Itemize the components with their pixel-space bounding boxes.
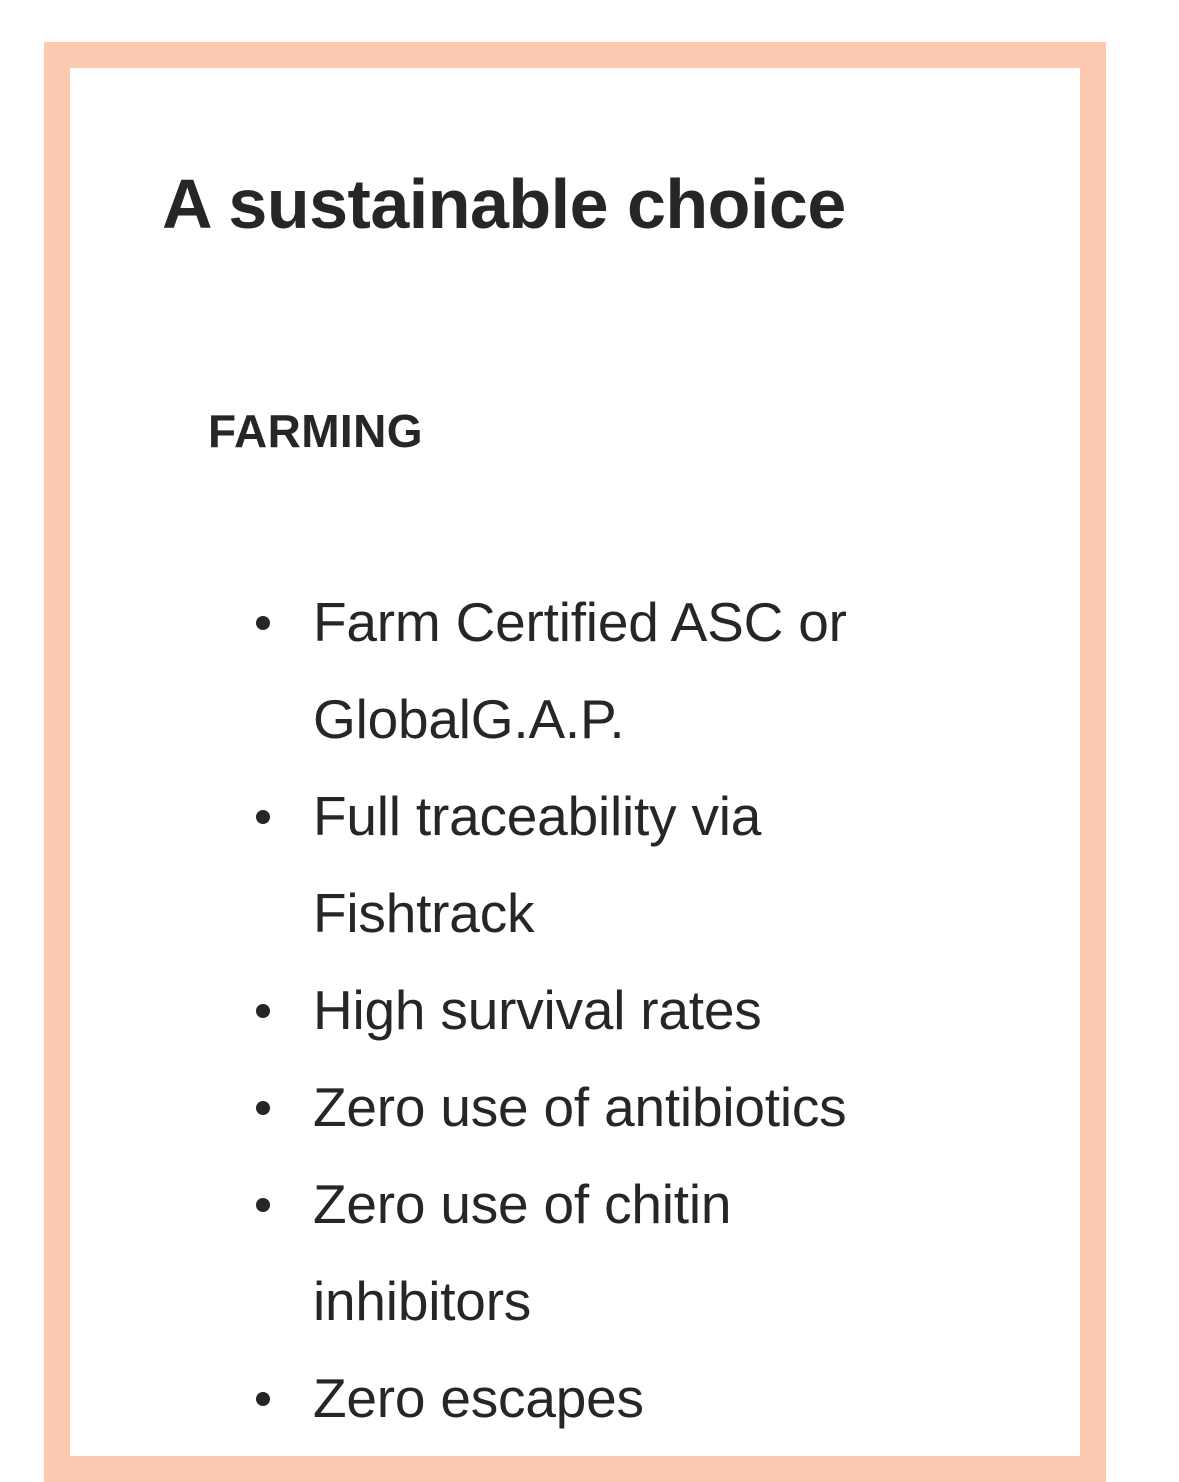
bullet-point-icon — [256, 1004, 270, 1018]
bullet-point-icon — [256, 1392, 270, 1406]
page-title: A sustainable choice — [162, 168, 846, 242]
benefit-list: Farm Certified ASC or GlobalG.A.P. Full … — [238, 574, 938, 1447]
list-item: High survival rates — [238, 962, 938, 1059]
list-item-label: Zero use of chitin inhibitors — [313, 1156, 938, 1350]
list-item-label: Farm Certified ASC or GlobalG.A.P. — [313, 574, 938, 768]
list-item-label: High survival rates — [313, 962, 938, 1059]
slide-root: A sustainable choice FARMING Farm Certif… — [0, 0, 1179, 1458]
bullet-point-icon — [256, 616, 270, 630]
list-item: Zero escapes — [238, 1350, 938, 1447]
list-item-label: Full traceability via Fishtrack — [313, 768, 938, 962]
list-item: Zero use of chitin inhibitors — [238, 1156, 938, 1350]
list-item-label: Zero use of antibiotics — [313, 1059, 938, 1156]
card-content-area: A sustainable choice FARMING Farm Certif… — [70, 68, 1080, 1456]
section-heading-farming: FARMING — [208, 408, 423, 454]
list-item-label: Zero escapes — [313, 1350, 938, 1447]
peach-border-frame: A sustainable choice FARMING Farm Certif… — [44, 42, 1106, 1482]
list-item: Zero use of antibiotics — [238, 1059, 938, 1156]
bullet-point-icon — [256, 810, 270, 824]
bullet-point-icon — [256, 1101, 270, 1115]
list-item: Farm Certified ASC or GlobalG.A.P. — [238, 574, 938, 768]
bullet-point-icon — [256, 1198, 270, 1212]
list-item: Full traceability via Fishtrack — [238, 768, 938, 962]
